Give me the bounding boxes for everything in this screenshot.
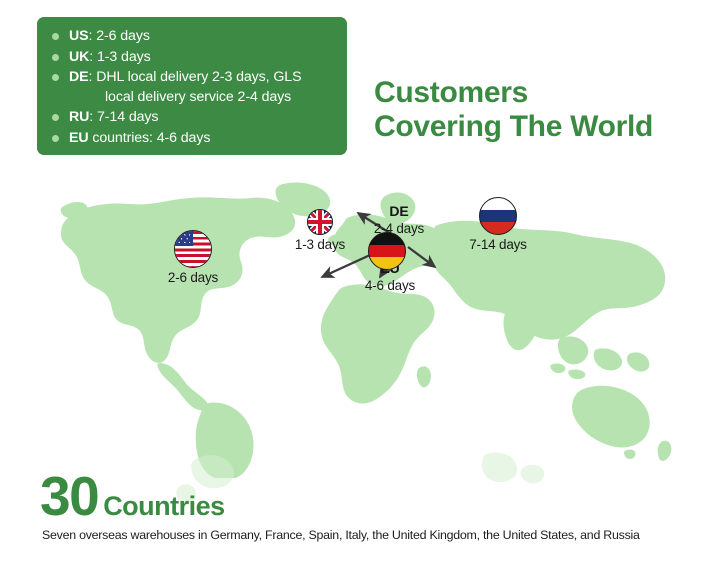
- marker-uk[interactable]: 1-3 days: [282, 209, 358, 252]
- list-item: US: 2-6 days: [49, 26, 337, 47]
- region-code: EU: [69, 130, 89, 146]
- marker-ru[interactable]: 7-14 days: [450, 197, 546, 252]
- de-flag-icon: [368, 232, 406, 270]
- region-code: UK: [69, 49, 89, 65]
- region-code: RU: [69, 109, 89, 125]
- marker-us[interactable]: 2-6 days: [148, 230, 238, 285]
- infographic-root: US: 2-6 days UK: 1-3 days DE: DHL local …: [0, 0, 720, 563]
- bullet-icon: [52, 135, 59, 142]
- marker-title: DE: [357, 203, 441, 219]
- region-text: 2-6 days: [92, 28, 149, 44]
- list-item: UK: 1-3 days: [49, 47, 337, 68]
- marker-label: 2-4 days: [357, 221, 441, 236]
- region-text: countries: 4-6 days: [89, 130, 211, 146]
- country-count-label: Countries: [103, 491, 225, 522]
- list-item: RU: 7-14 days: [49, 107, 337, 128]
- marker-label: 2-6 days: [148, 270, 238, 285]
- region-text: 7-14 days: [93, 109, 158, 125]
- page-title: Customers Covering The World: [374, 76, 653, 144]
- us-flag-icon: [174, 230, 212, 268]
- uk-flag-icon: [307, 209, 333, 235]
- marker-label: 7-14 days: [450, 237, 546, 252]
- bullet-icon: [52, 33, 59, 40]
- delivery-list: US: 2-6 days UK: 1-3 days DE: DHL local …: [49, 26, 337, 149]
- region-text: DHL local delivery 2-3 days, GLS: [92, 69, 301, 85]
- region-text-line2: local delivery service 2-4 days: [69, 87, 337, 108]
- delivery-info-box: US: 2-6 days UK: 1-3 days DE: DHL local …: [37, 17, 347, 155]
- bullet-icon: [52, 74, 59, 81]
- list-item: EU countries: 4-6 days: [49, 128, 337, 149]
- marker-label: 1-3 days: [282, 237, 358, 252]
- ru-flag-icon: [479, 197, 517, 235]
- bullet-icon: [52, 114, 59, 121]
- page-title-line1: Customers: [374, 76, 653, 110]
- list-item: DE: DHL local delivery 2-3 days, GLS loc…: [49, 67, 337, 107]
- page-title-line2: Covering The World: [374, 110, 653, 144]
- marker-de[interactable]: DE 2-4 days: [357, 203, 441, 236]
- bullet-icon: [52, 54, 59, 61]
- country-count-number: 30: [40, 470, 98, 522]
- country-count: 30 Countries: [40, 470, 225, 522]
- region-code: DE: [69, 69, 89, 85]
- region-code: US: [69, 28, 89, 44]
- region-text: 1-3 days: [93, 49, 150, 65]
- footer-note: Seven overseas warehouses in Germany, Fr…: [42, 528, 640, 542]
- marker-label: 4-6 days: [344, 278, 436, 293]
